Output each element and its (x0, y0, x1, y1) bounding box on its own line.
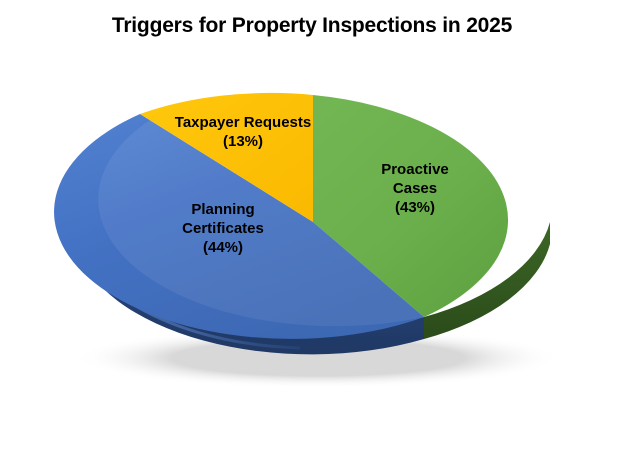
pie-chart-figure: Triggers for Property Inspections in 202… (0, 0, 624, 458)
slice-label-line: Taxpayer Requests (128, 113, 358, 132)
slice-label-line: Planning (130, 200, 316, 219)
slice-value-percent: (44%) (130, 238, 316, 257)
slice-label-line: Certificates (130, 219, 316, 238)
slice-label-planning-certificates: Planning Certificates (44%) (130, 200, 316, 257)
slice-label-line: Cases (330, 179, 500, 198)
slice-label-line: Proactive (330, 160, 500, 179)
slice-value-percent: (43%) (330, 198, 500, 217)
slice-label-taxpayer-requests: Taxpayer Requests (13%) (128, 113, 358, 151)
slice-label-proactive-cases: Proactive Cases (43%) (330, 160, 500, 217)
slice-value-percent: (13%) (128, 132, 358, 151)
